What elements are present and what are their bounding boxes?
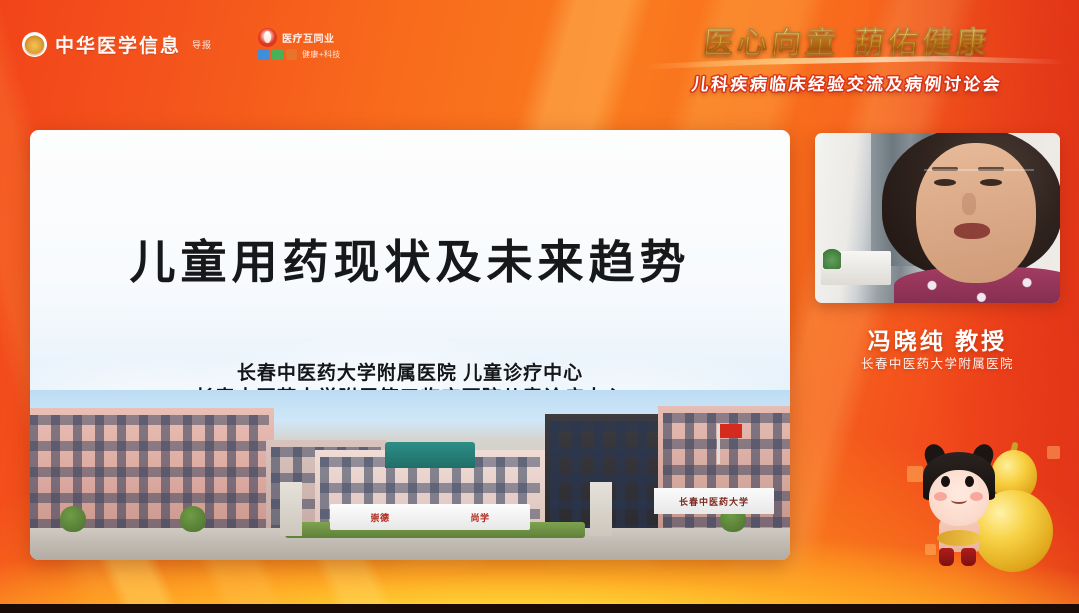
campus-flag-icon <box>717 424 720 464</box>
logo-secondary-top: 医疗互同业 <box>258 28 341 47</box>
qq-penguin-icon <box>258 28 277 47</box>
bottom-letterbox <box>0 604 1079 613</box>
blue-square-icon <box>258 49 269 60</box>
campus-tree-1 <box>60 506 86 532</box>
university-sign-text: 长春中医药大学 <box>679 495 749 508</box>
webcam-person <box>876 133 1060 303</box>
mascot-boy <box>915 452 1003 572</box>
slide-title: 儿童用药现状及未来趋势 <box>30 226 790 292</box>
mascot-eye-left <box>941 476 950 487</box>
mascot-eye-right <box>965 476 974 487</box>
speaker-webcam[interactable] <box>815 133 1060 303</box>
webcam-plant <box>823 247 841 269</box>
broadcast-stage: 中华医学信息 导报 医疗互同业 健康+科技 医心向童 葫佑健康 儿科疾病临床经验… <box>0 0 1079 613</box>
logo-secondary-line1: 医疗互同业 <box>282 30 335 45</box>
webcam-mouth <box>954 223 990 239</box>
cmia-seal-icon <box>22 32 47 57</box>
mascot-cheek-right <box>970 492 983 501</box>
campus-university-sign: 长春中医药大学 <box>654 488 774 514</box>
logo-primary-name: 中华医学信息 <box>55 31 181 58</box>
gate-sign-left-text: 崇德 <box>370 511 389 524</box>
webcam-face <box>916 143 1036 283</box>
campus-gate-sign: 崇德 尚学 <box>330 504 530 530</box>
speaker-name: 冯晓纯 教授 <box>815 322 1060 356</box>
campus-photo: 崇德 尚学 长春中医药大学 <box>30 390 790 560</box>
mascot-leaf-skirt <box>937 530 981 546</box>
logo-china-medical-information-herald: 中华医学信息 导报 <box>22 31 212 58</box>
green-square-icon <box>272 49 283 60</box>
logo-medical-partner: 医疗互同业 健康+科技 <box>258 28 341 60</box>
campus-gate-pillar-right <box>590 482 612 536</box>
mascot-boot-left <box>939 548 954 566</box>
calabash-boy-mascot <box>915 440 1065 580</box>
campus-gate-pillar-left <box>280 482 302 536</box>
event-title: 医心向童 葫佑健康 <box>635 18 1060 62</box>
mascot-cheek-left <box>934 492 947 501</box>
mascot-smile <box>951 496 967 504</box>
logo-primary-suffix: 导报 <box>192 38 212 51</box>
header-logo-row: 中华医学信息 导报 医疗互同业 健康+科技 <box>22 28 341 60</box>
mascot-boot-right <box>961 548 976 566</box>
campus-building-3-roof <box>385 442 475 468</box>
campus-tree-2 <box>180 506 206 532</box>
event-banner: 医心向童 葫佑健康 儿科疾病临床经验交流及病例讨论会 <box>637 18 1057 95</box>
glasses-icon <box>924 169 1034 193</box>
logo-secondary-bottom: 健康+科技 <box>258 49 341 60</box>
logo-secondary-line2: 健康+科技 <box>302 49 341 60</box>
speaker-affiliation: 长春中医药大学附属医院 <box>815 353 1060 372</box>
slide-subtitle-line-1: 长春中医药大学附属医院 儿童诊疗中心 <box>30 361 790 386</box>
orange-square-icon <box>286 49 297 60</box>
webcam-nose <box>962 193 976 215</box>
event-subtitle: 儿科疾病临床经验交流及病例讨论会 <box>636 70 1059 95</box>
gate-sign-right-text: 尚学 <box>470 511 489 524</box>
presentation-slide[interactable]: 儿童用药现状及未来趋势 长春中医药大学附属医院 儿童诊疗中心 长春中医药大学附属… <box>30 130 790 560</box>
